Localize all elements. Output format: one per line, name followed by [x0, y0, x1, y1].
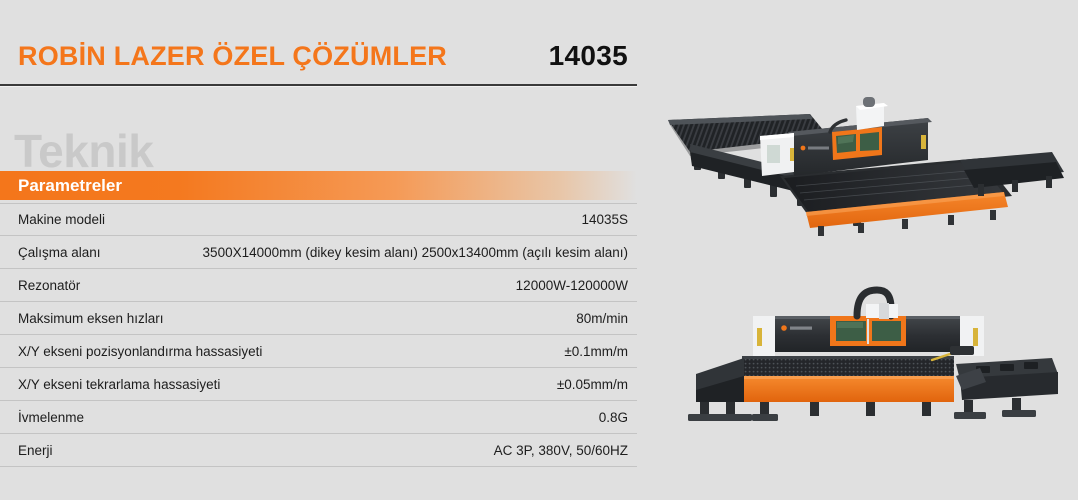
header-divider: [0, 84, 637, 87]
spec-table: Makine modeli14035SÇalışma alanı3500X140…: [0, 203, 637, 467]
right-cabinet-handle: [973, 328, 978, 346]
model-code: 14035: [549, 42, 628, 70]
spec-label: X/Y ekseni tekrarlama hassasiyeti: [18, 377, 220, 392]
enclosure-handle: [921, 135, 926, 149]
product-spec-sheet: ROBİN LAZER ÖZEL ÇÖZÜMLER 14035 Teknik P…: [0, 0, 1078, 500]
spec-label: Maksimum eksen hızları: [18, 311, 164, 326]
table-row: Makine modeli14035S: [0, 203, 637, 236]
right-exchange-table: [956, 358, 1058, 400]
brand-logo-icon: [781, 325, 787, 331]
cabinet-handle: [790, 148, 794, 161]
spec-label: İvmelenme: [18, 410, 84, 425]
spec-label: Enerji: [18, 443, 53, 458]
cabinet-panel: [767, 145, 780, 163]
viewing-window: [832, 127, 882, 160]
cable-hose-assembly: [857, 290, 898, 319]
table-row: İvmelenme0.8G: [0, 401, 637, 434]
brand-wordmark: [808, 147, 829, 150]
spec-label: Makine modeli: [18, 212, 105, 227]
cable-duct: [863, 97, 875, 107]
spec-value: 12000W-120000W: [516, 278, 628, 293]
table-row: X/Y ekseni pozisyonlandırma hassasiyeti±…: [0, 335, 637, 368]
spec-value: ±0.1mm/m: [564, 344, 628, 359]
cutting-bed: [742, 356, 954, 402]
table-row: Çalışma alanı3500X14000mm (dikey kesim a…: [0, 236, 637, 269]
page-title: ROBİN LAZER ÖZEL ÇÖZÜMLER: [18, 43, 447, 70]
machine-enclosure: [753, 316, 984, 356]
fiber-laser-cutting-machine-perspective-view: [660, 92, 1078, 242]
table-row: Maksimum eksen hızları80m/min: [0, 302, 637, 335]
spec-label: Çalışma alanı: [18, 245, 101, 260]
brand-wordmark: [790, 327, 812, 330]
spec-value: 3500X14000mm (dikey kesim alanı) 2500x13…: [203, 245, 628, 260]
product-images: [660, 0, 1078, 500]
spec-label: X/Y ekseni pozisyonlandırma hassasiyeti: [18, 344, 262, 359]
section-header-bar: Parametreler: [0, 171, 637, 200]
spec-value: 0.8G: [599, 410, 628, 425]
spec-panel: ROBİN LAZER ÖZEL ÇÖZÜMLER 14035 Teknik P…: [0, 0, 660, 500]
spec-value: 80m/min: [576, 311, 628, 326]
brand-logo-icon: [801, 146, 806, 151]
section-header-label: Parametreler: [0, 177, 122, 194]
spec-value: ±0.05mm/m: [557, 377, 628, 392]
spec-value: 14035S: [581, 212, 628, 227]
spec-value: AC 3P, 380V, 50/60HZ: [494, 443, 628, 458]
viewing-window: [830, 316, 906, 346]
spec-label: Rezonatör: [18, 278, 80, 293]
fiber-laser-cutting-machine-front-view: [660, 278, 1078, 438]
bed-front-apron: [742, 376, 954, 402]
machine-base-plates: [688, 410, 1036, 421]
section-watermark: Teknik: [14, 128, 153, 174]
table-row: Rezonatör12000W-120000W: [0, 269, 637, 302]
left-cabinet-handle: [757, 328, 762, 346]
header: ROBİN LAZER ÖZEL ÇÖZÜMLER 14035: [18, 36, 628, 76]
left-cabinet: [753, 316, 775, 356]
table-row: X/Y ekseni tekrarlama hassasiyeti±0.05mm…: [0, 368, 637, 401]
table-row: EnerjiAC 3P, 380V, 50/60HZ: [0, 434, 637, 467]
